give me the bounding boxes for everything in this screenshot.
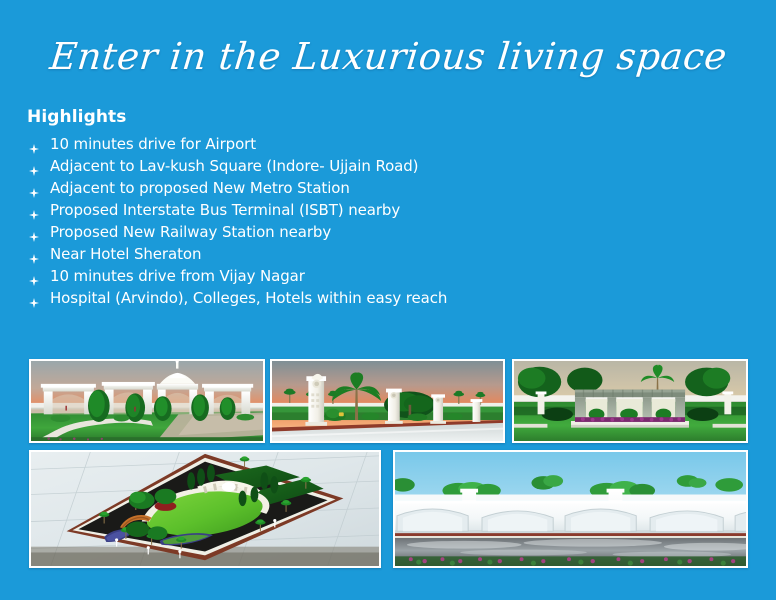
four-point-star-bullet-icon [29, 140, 39, 150]
boundary-wall-rendering [393, 450, 748, 568]
list-item-label: 10 minutes drive from Vijay Nagar [50, 267, 305, 285]
list-item: Proposed Interstate Bus Terminal (ISBT) … [27, 201, 667, 219]
list-item-label: 10 minutes drive for Airport [50, 135, 256, 153]
aerial-site-model-rendering [29, 450, 381, 568]
four-point-star-bullet-icon [29, 184, 39, 194]
list-item: Near Hotel Sheraton [27, 245, 667, 263]
four-point-star-bullet-icon [29, 162, 39, 172]
page-title: Enter in the Luxurious living space [47, 34, 729, 80]
four-point-star-bullet-icon [29, 294, 39, 304]
four-point-star-bullet-icon [29, 206, 39, 216]
list-item: 10 minutes drive from Vijay Nagar [27, 267, 667, 285]
list-item: Proposed New Railway Station nearby [27, 223, 667, 241]
highlights-list: 10 minutes drive for Airport Adjacent to… [27, 135, 667, 307]
list-item-label: Near Hotel Sheraton [50, 245, 201, 263]
entrance-gate-rendering [29, 359, 265, 443]
list-item-label: Proposed Interstate Bus Terminal (ISBT) … [50, 201, 400, 219]
list-item: Adjacent to proposed New Metro Station [27, 179, 667, 197]
highlights-section: Highlights 10 minutes drive for Airport … [27, 106, 667, 311]
entrance-pillars-rendering [270, 359, 505, 443]
list-item: Hospital (Arvindo), Colleges, Hotels wit… [27, 289, 667, 307]
four-point-star-bullet-icon [29, 228, 39, 238]
list-item-label: Adjacent to Lav-kush Square (Indore- Ujj… [50, 157, 418, 175]
pergola-structure-rendering [512, 359, 748, 443]
list-item-label: Adjacent to proposed New Metro Station [50, 179, 350, 197]
list-item-label: Hospital (Arvindo), Colleges, Hotels wit… [50, 289, 447, 307]
four-point-star-bullet-icon [29, 250, 39, 260]
page-title-container: Enter in the Luxurious living space [0, 34, 776, 80]
brochure-page: Enter in the Luxurious living space High… [0, 0, 776, 600]
list-item-label: Proposed New Railway Station nearby [50, 223, 331, 241]
four-point-star-bullet-icon [29, 272, 39, 282]
list-item: 10 minutes drive for Airport [27, 135, 667, 153]
highlights-heading: Highlights [27, 106, 667, 128]
list-item: Adjacent to Lav-kush Square (Indore- Ujj… [27, 157, 667, 175]
